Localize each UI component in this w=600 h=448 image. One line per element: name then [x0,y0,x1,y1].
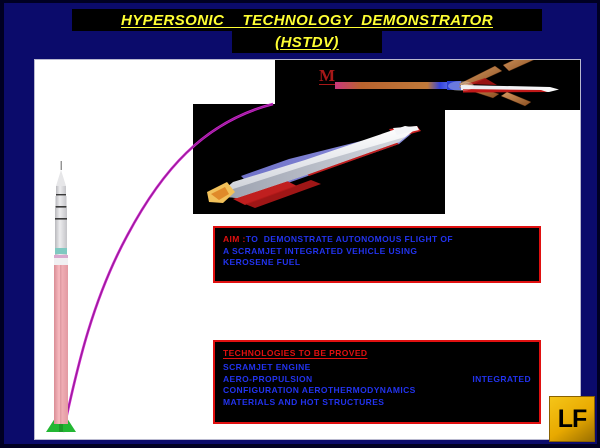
tech-item-1: SCRAMJET ENGINE [223,362,531,374]
slide-canvas: MISSION [34,59,581,440]
aim-line-1: AIM :TO DEMONSTRATE AUTONOMOUS FLIGHT OF [223,234,531,246]
tech-item-2-right: INTEGRATED [472,374,531,386]
title-band-line-2: (HSTDV) [232,31,382,53]
presentation-slide: HYPERSONIC TECHNOLOGY DEMONSTRATOR (HSTD… [0,0,600,448]
aim-label: AIM : [223,234,246,244]
technologies-heading: TECHNOLOGIES TO BE PROVED [223,348,531,358]
tech-item-3: CONFIGURATION AEROTHERMODYNAMICS [223,385,531,397]
aim-text-1: TO DEMONSTRATE AUTONOMOUS FLIGHT OF [246,234,453,244]
tech-item-4: MATERIALS AND HOT STRUCTURES [223,397,531,409]
technologies-box: TECHNOLOGIES TO BE PROVED SCRAMJET ENGIN… [213,340,541,424]
tech-item-2-row: AERO-PROPULSION INTEGRATED [223,374,531,386]
aim-box: AIM :TO DEMONSTRATE AUTONOMOUS FLIGHT OF… [213,226,541,283]
lf-logo-text: LF [558,405,587,434]
title-band-line-1: HYPERSONIC TECHNOLOGY DEMONSTRATOR [72,9,542,31]
aim-line-2: A SCRAMJET INTEGRATED VEHICLE USING [223,246,531,258]
page-subtitle: (HSTDV) [275,34,339,51]
aim-line-3: KEROSENE FUEL [223,257,531,269]
tech-item-2: AERO-PROPULSION [223,374,313,386]
lf-logo-badge: LF [549,396,595,442]
page-title: HYPERSONIC TECHNOLOGY DEMONSTRATOR [121,12,493,29]
